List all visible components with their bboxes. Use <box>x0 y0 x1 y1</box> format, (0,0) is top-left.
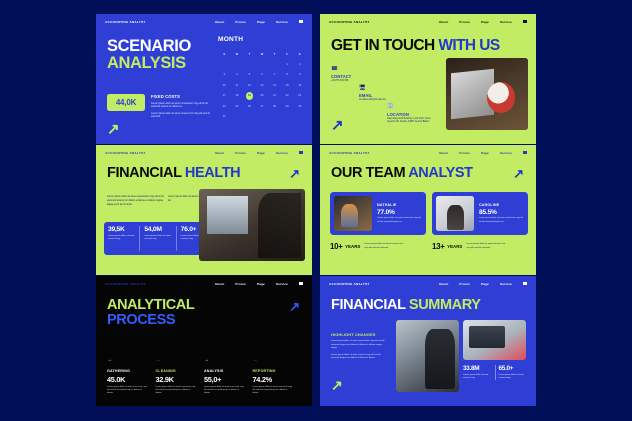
contact-block-email[interactable]: 🖥 EMAIL Creativemark@Gmail.com <box>359 86 435 103</box>
title-part-2: WITH US <box>438 37 499 54</box>
contact-label: LOCATION <box>387 112 435 117</box>
arrow-right-icon: → <box>253 358 295 364</box>
step-label: ANALYSIS <box>204 369 246 373</box>
page-title: SCENARIO ANALYSIS <box>107 38 191 72</box>
contact-value: Creativemark@Gmail.com <box>359 99 435 102</box>
slide-navbar: ACCOUNTING ANALYST About Promo Page Serv… <box>96 276 312 291</box>
nav-links: About Promo Page Service <box>439 151 527 155</box>
step-value: 32.9K <box>156 375 198 384</box>
nav-item-service[interactable]: Service <box>500 282 512 286</box>
slide-navbar: ACCOUNTING ANALYST About Promo Page Serv… <box>96 145 312 160</box>
hamburger-icon[interactable] <box>523 282 527 285</box>
member-desc: Lorem ipsum dolor sit amet consectetur c… <box>377 217 422 223</box>
calendar-day[interactable]: 18 <box>231 91 244 102</box>
nav-item-service[interactable]: Service <box>276 151 288 155</box>
calendar-day[interactable]: 20 <box>256 91 269 102</box>
contact-label: CONTACT <box>331 74 435 79</box>
team-member-photo-2 <box>436 196 474 231</box>
calendar-blank <box>243 59 256 70</box>
contact-label: EMAIL <box>359 93 435 98</box>
nav-item-promo[interactable]: Promo <box>235 20 246 24</box>
calendar-dow: T <box>243 50 256 59</box>
calendar-day[interactable]: 28 <box>268 101 281 112</box>
kpi-badge: 44,0K <box>107 94 145 111</box>
title-part-1: FINANCIAL <box>331 297 405 313</box>
fixed-costs-label: FIXED COSTS <box>151 94 213 99</box>
hamburger-icon[interactable] <box>299 151 303 154</box>
nav-item-promo[interactable]: Promo <box>235 282 246 286</box>
calendar-dow: W <box>256 50 269 59</box>
calendar-day[interactable]: 3 <box>218 70 231 81</box>
stat-value: 54,0M <box>144 226 171 233</box>
brand-label: ACCOUNTING ANALYST <box>105 282 146 286</box>
title-part-1: OUR TEAM <box>331 165 405 181</box>
nav-links: About Promo Page Service <box>439 282 527 286</box>
calendar-day[interactable]: 24 <box>218 101 231 112</box>
calendar-day[interactable]: 21 <box>268 91 281 102</box>
step-desc: Lorem ipsum dolor sit amet cons ectur ci… <box>107 386 149 396</box>
step-desc: Lorem ipsum dolor sit amet cons ectur ci… <box>204 386 246 396</box>
experience-unit: YEARS <box>345 244 360 249</box>
calendar-day[interactable]: 13 <box>256 80 269 91</box>
calendar-dow: T <box>268 50 281 59</box>
contact-value: +19 876 346 098 <box>331 80 435 83</box>
highlight-text-2: Lorem ipsum dolor sit amet consect cing … <box>331 354 387 361</box>
nav-item-about[interactable]: About <box>215 20 225 24</box>
step-value: 45.0K <box>107 375 149 384</box>
office-desk-photo <box>199 189 305 261</box>
calendar-day[interactable]: 27 <box>256 101 269 112</box>
slide-navbar: ACCOUNTING ANALYST About Promo Page Serv… <box>320 276 536 291</box>
calendar-dow: M <box>231 50 244 59</box>
stat-item: 65.0+ Lorem ipsum dolor sit amet consect… <box>496 365 528 380</box>
process-steps: → GATHERING 45.0K Lorem ipsum dolor sit … <box>107 358 301 396</box>
experience-years: 10+ <box>330 242 343 251</box>
hamburger-icon[interactable] <box>299 20 303 23</box>
nav-item-page[interactable]: Page <box>257 20 265 24</box>
calendar-day[interactable]: 14 <box>268 80 281 91</box>
stat-desc: Lorem ipsum dolor sit amet consect cing. <box>463 374 492 380</box>
slide-navbar: ACCOUNTING ANALYST About Promo Page Serv… <box>320 145 536 160</box>
stat-desc: Lorem ipsum dolor sit amet consect cing. <box>144 235 171 242</box>
calendar-day[interactable]: 10 <box>218 80 231 91</box>
nav-links: About Promo Page Service <box>215 20 303 24</box>
nav-item-about[interactable]: About <box>439 151 449 155</box>
calendar-day[interactable]: 8 <box>281 70 294 81</box>
calendar-day-selected[interactable]: 19 <box>243 91 256 102</box>
title-part-1: FINANCIAL <box>107 165 181 181</box>
phone-icon: ☎ <box>331 67 435 73</box>
stats-strip: 39,5K Lorem ipsum dolor sit amet consect… <box>104 222 212 255</box>
calendar-blank <box>231 59 244 70</box>
calendar-day[interactable]: 29 <box>281 101 294 112</box>
nav-item-about[interactable]: About <box>215 282 225 286</box>
contact-block-location[interactable]: 🏢 LOCATION Jalan Raya 123 Building 4, 4t… <box>387 104 435 124</box>
arrow-up-right-icon[interactable]: ↗ <box>107 122 120 137</box>
meeting-photo-1 <box>396 320 459 392</box>
slide-analytical-process[interactable]: ACCOUNTING ANALYST About Promo Page Serv… <box>96 276 312 406</box>
calendar-day[interactable]: 16 <box>293 80 306 91</box>
nav-item-promo[interactable]: Promo <box>235 151 246 155</box>
step-label: CLEANING <box>156 369 198 373</box>
stat-item: 33.8M Lorem ipsum dolor sit amet consect… <box>463 365 496 380</box>
nav-links: About Promo Page Service <box>215 282 303 286</box>
nav-item-page[interactable]: Page <box>257 151 265 155</box>
experience-desc: Lorem ipsum dolor sit amet consect ctur … <box>364 243 404 250</box>
fixed-costs-block: FIXED COSTS Lorem ipsum dolor sit amet c… <box>151 94 213 119</box>
page-title: ANALYTICAL PROCESS <box>107 298 194 328</box>
calendar-day[interactable]: 17 <box>218 91 231 102</box>
team-card[interactable]: NATHALIE 77.0% Lorem ipsum dolor sit ame… <box>330 192 426 235</box>
slide-our-team-analyst[interactable]: ACCOUNTING ANALYST About Promo Page Serv… <box>320 145 536 275</box>
calendar-dow: S <box>293 50 306 59</box>
monitor-icon: 🖥 <box>359 86 435 92</box>
nav-item-page[interactable]: Page <box>481 282 489 286</box>
nav-item-service[interactable]: Service <box>500 151 512 155</box>
calendar-day[interactable]: 23 <box>293 91 306 102</box>
stat-item: 54,0M Lorem ipsum dolor sit amet consect… <box>140 226 176 251</box>
step-desc: Lorem ipsum dolor sit amet cons ectur ci… <box>253 386 295 396</box>
nav-links: About Promo Page Service <box>215 151 303 155</box>
arrow-up-right-icon[interactable]: ↗ <box>289 300 300 313</box>
arrow-right-icon: → <box>204 358 246 364</box>
contact-value: Jalan Raya 123 Building 4, 4th Floor, Te… <box>387 118 435 125</box>
experience-years: 13+ <box>432 242 445 251</box>
member-name: NATHALIE <box>377 203 422 207</box>
title-line-1: SCENARIO <box>107 38 191 55</box>
highlight-block: HIGHLIGHT CHANGES Lorem ipsum dolor sit … <box>331 332 387 361</box>
brand-label: ACCOUNTING ANALYST <box>329 20 370 24</box>
step-label: GATHERING <box>107 369 149 373</box>
member-value: 85.5% <box>479 209 524 216</box>
member-name: CAROLINE <box>479 203 524 207</box>
experience-row: 13+ YEARS Lorem ipsum dolor sit amet con… <box>432 242 506 251</box>
calendar-day[interactable]: 5 <box>243 70 256 81</box>
calendar-day[interactable]: 26 <box>243 101 256 112</box>
hamburger-icon[interactable] <box>299 282 303 285</box>
title-line-2: PROCESS <box>107 313 194 328</box>
slide-navbar: ACCOUNTING ANALYST About Promo Page Serv… <box>96 14 312 29</box>
process-step: → ANALYSIS 55,0+ Lorem ipsum dolor sit a… <box>204 358 253 396</box>
contact-block-phone[interactable]: ☎ CONTACT +19 876 346 098 <box>331 67 435 84</box>
nav-item-about[interactable]: About <box>439 20 449 24</box>
nav-item-page[interactable]: Page <box>481 20 489 24</box>
brand-label: ACCOUNTING ANALYST <box>105 151 146 155</box>
fixed-costs-text-1: Lorem ipsum dolor sit amet consectetur c… <box>151 102 213 109</box>
member-desc: Lorem ipsum dolor sit amet consectetur c… <box>479 217 524 223</box>
calendar-dow: F <box>281 50 294 59</box>
calendar-blank <box>218 59 231 70</box>
highlight-label: HIGHLIGHT CHANGES <box>331 332 387 337</box>
title-line-1: ANALYTICAL <box>107 298 194 313</box>
nav-item-page[interactable]: Page <box>257 282 265 286</box>
fixed-costs-text-2: Lorem ipsum dolor sit amet consect ctur … <box>151 112 213 119</box>
calendar-widget[interactable]: MONTH SMTWTFS123456789101112131415161718… <box>218 36 306 122</box>
title-part-2: HEALTH <box>185 165 240 181</box>
arrow-up-right-icon[interactable]: ↗ <box>331 118 344 133</box>
step-label: REPORTING <box>253 369 295 373</box>
nav-item-page[interactable]: Page <box>481 151 489 155</box>
title-part-2: ANALYST <box>408 165 472 181</box>
nav-item-about[interactable]: About <box>215 151 225 155</box>
title-part-1: GET IN TOUCH <box>331 37 435 54</box>
arrow-right-icon: → <box>107 358 149 364</box>
nav-item-about[interactable]: About <box>439 282 449 286</box>
calendar-day[interactable]: 30 <box>293 101 306 112</box>
title-part-2: SUMMARY <box>409 297 481 313</box>
meeting-photo-2 <box>463 320 526 360</box>
arrow-up-right-icon[interactable]: ↗ <box>331 378 343 392</box>
stats-strip: 33.8M Lorem ipsum dolor sit amet consect… <box>463 365 527 380</box>
hamburger-icon[interactable] <box>523 20 527 23</box>
nav-item-promo[interactable]: Promo <box>459 20 470 24</box>
slide-scenario-analysis[interactable]: ACCOUNTING ANALYST About Promo Page Serv… <box>96 14 312 144</box>
contact-list: ☎ CONTACT +19 876 346 098 🖥 EMAIL Creati… <box>331 67 435 127</box>
body-paragraph-1: Lorem ipsum dolor sit amet consectetur c… <box>107 195 164 207</box>
calendar-day[interactable]: 11 <box>231 80 244 91</box>
stat-value: 39,5K <box>108 226 135 233</box>
stat-value: 33.8M <box>463 365 492 372</box>
calendar-day[interactable]: 7 <box>268 70 281 81</box>
brand-label: ACCOUNTING ANALYST <box>105 20 146 24</box>
nav-item-service[interactable]: Service <box>276 282 288 286</box>
calendar-dow: S <box>218 50 231 59</box>
calendar-day[interactable]: 15 <box>281 80 294 91</box>
page-title: OUR TEAM ANALYST <box>331 166 473 181</box>
calendar-day[interactable]: 1 <box>281 59 294 70</box>
brand-label: ACCOUNTING ANALYST <box>329 151 370 155</box>
calendar-day[interactable]: 22 <box>281 91 294 102</box>
process-step: → CLEANING 32.9K Lorem ipsum dolor sit a… <box>156 358 205 396</box>
arrow-right-icon: → <box>156 358 198 364</box>
slide-financial-summary[interactable]: ACCOUNTING ANALYST About Promo Page Serv… <box>320 276 536 406</box>
page-title: FINANCIAL SUMMARY <box>331 298 481 313</box>
calendar-blank <box>268 59 281 70</box>
process-step: → GATHERING 45.0K Lorem ipsum dolor sit … <box>107 358 156 396</box>
title-line-2: ANALYSIS <box>107 55 191 72</box>
slide-financial-health[interactable]: ACCOUNTING ANALYST About Promo Page Serv… <box>96 145 312 275</box>
location-icon: 🏢 <box>387 104 435 110</box>
hamburger-icon[interactable] <box>523 151 527 154</box>
experience-unit: YEARS <box>447 244 462 249</box>
nav-item-promo[interactable]: Promo <box>459 151 470 155</box>
calendar-day[interactable]: 9 <box>293 70 306 81</box>
calendar-day[interactable]: 2 <box>293 59 306 70</box>
coffee-laptop-photo <box>446 58 528 130</box>
calendar-day[interactable]: 31 <box>218 112 231 123</box>
stat-value: 65.0+ <box>499 365 528 372</box>
page-title: FINANCIAL HEALTH <box>107 166 240 181</box>
slide-gallery: ACCOUNTING ANALYST About Promo Page Serv… <box>0 0 632 421</box>
stat-desc: Lorem ipsum dolor sit amet consect cing. <box>108 235 135 242</box>
arrow-up-right-icon[interactable]: ↗ <box>289 167 300 180</box>
nav-item-service[interactable]: Service <box>276 20 288 24</box>
calendar-grid[interactable]: SMTWTFS123456789101112131415161718192021… <box>218 50 306 122</box>
stat-item: 39,5K Lorem ipsum dolor sit amet consect… <box>104 226 140 251</box>
page-title: GET IN TOUCH WITH US <box>331 38 500 54</box>
team-member-photo-1 <box>334 196 372 231</box>
member-value: 77.0% <box>377 209 422 216</box>
slide-navbar: ACCOUNTING ANALYST About Promo Page Serv… <box>320 14 536 29</box>
nav-item-promo[interactable]: Promo <box>459 282 470 286</box>
team-card[interactable]: CAROLINE 85.5% Lorem ipsum dolor sit ame… <box>432 192 528 235</box>
calendar-blank <box>256 59 269 70</box>
slide-get-in-touch[interactable]: ACCOUNTING ANALYST About Promo Page Serv… <box>320 14 536 144</box>
calendar-title: MONTH <box>218 36 306 43</box>
stat-desc: Lorem ipsum dolor sit amet consect cing. <box>499 374 528 380</box>
brand-label: ACCOUNTING ANALYST <box>329 282 370 286</box>
experience-desc: Lorem ipsum dolor sit amet consect ctur … <box>466 243 506 250</box>
highlight-text-1: Lorem ipsum dolor sit amet consectetur c… <box>331 340 387 351</box>
calendar-day[interactable]: 4 <box>231 70 244 81</box>
calendar-day[interactable]: 6 <box>256 70 269 81</box>
calendar-day[interactable]: 12 <box>243 80 256 91</box>
step-value: 55,0+ <box>204 375 246 384</box>
process-step: → REPORTING 74.2% Lorem ipsum dolor sit … <box>253 358 302 396</box>
step-desc: Lorem ipsum dolor sit amet cons ectur ci… <box>156 386 198 396</box>
arrow-up-right-icon[interactable]: ↗ <box>513 167 524 180</box>
nav-links: About Promo Page Service <box>439 20 527 24</box>
step-value: 74.2% <box>253 375 295 384</box>
experience-row: 10+ YEARS Lorem ipsum dolor sit amet con… <box>330 242 404 251</box>
nav-item-service[interactable]: Service <box>500 20 512 24</box>
calendar-day[interactable]: 25 <box>231 101 244 112</box>
